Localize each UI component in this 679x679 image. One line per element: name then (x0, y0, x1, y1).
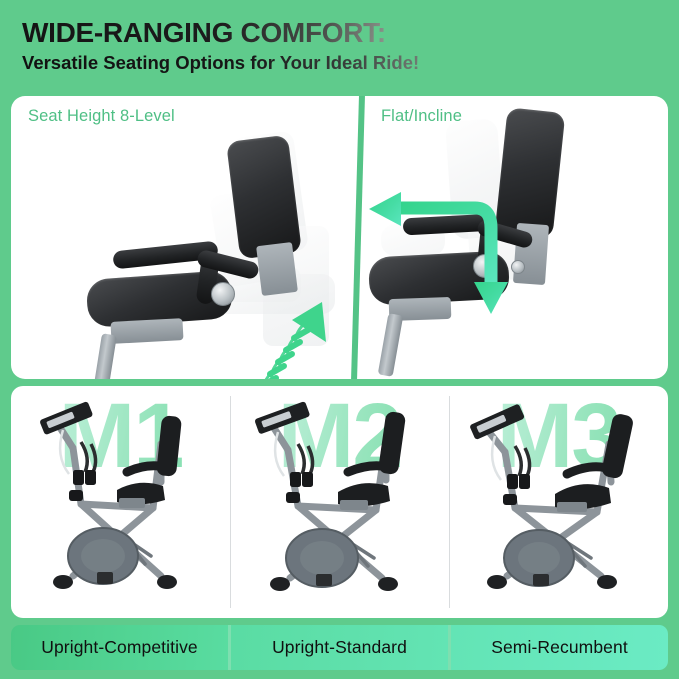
feature-label-flat-incline: Flat/Incline (381, 107, 462, 126)
feature-panel-flat-incline: Flat/Incline (361, 96, 668, 379)
model-divider-1 (230, 396, 231, 608)
bike-illustration-m3 (449, 386, 668, 618)
model-divider-2 (449, 396, 450, 608)
feature-panel-row: Seat Height 8-Level (11, 96, 668, 379)
page-subtitle: Versatile Seating Options for Your Ideal… (22, 53, 679, 73)
model-caption-m2[interactable]: Upright-Standard (231, 625, 451, 670)
product-feature-poster: WIDE-RANGING COMFORT: Versatile Seating … (0, 0, 679, 679)
model-panel-m1[interactable]: M1 (11, 386, 230, 618)
model-panel-m3[interactable]: M3 (449, 386, 668, 618)
flat-incline-curved-arrow (367, 188, 497, 318)
header: WIDE-RANGING COMFORT: Versatile Seating … (0, 0, 679, 90)
page-title: WIDE-RANGING COMFORT: (22, 18, 679, 47)
seat-height-double-arrow (196, 296, 346, 379)
model-caption-row: Upright-Competitive Upright-Standard Sem… (11, 625, 668, 670)
bike-illustration-m2 (230, 386, 449, 618)
model-panel-m2[interactable]: M2 (230, 386, 449, 618)
feature-label-seat-height: Seat Height 8-Level (28, 107, 175, 126)
model-caption-m1[interactable]: Upright-Competitive (11, 625, 231, 670)
feature-panel-seat-height: Seat Height 8-Level (11, 96, 354, 379)
model-caption-m3[interactable]: Semi-Recumbent (451, 625, 668, 670)
model-panel-row: M1 (11, 386, 668, 618)
bike-illustration-m1 (11, 386, 230, 618)
